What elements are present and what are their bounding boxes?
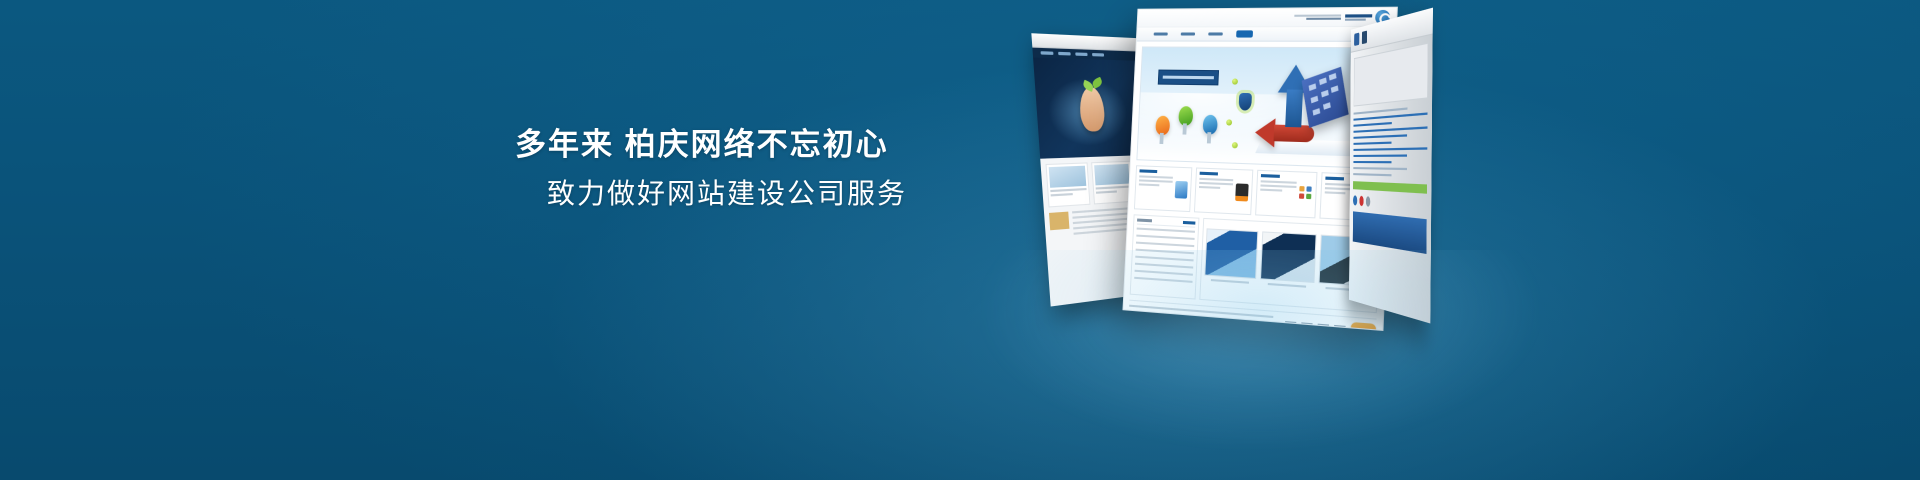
footer-link[interactable] <box>1318 323 1329 327</box>
center-site-topbar <box>1137 8 1396 28</box>
news-panel-header <box>1137 219 1196 228</box>
cube-cell <box>1329 73 1337 81</box>
footer-cta-button[interactable] <box>1351 322 1377 331</box>
feature-card-heading <box>1139 169 1157 173</box>
round-button[interactable] <box>1359 196 1363 207</box>
text-line <box>1354 107 1407 114</box>
slogan-line <box>1294 14 1341 16</box>
text-line <box>1354 112 1428 120</box>
dot-decor <box>1232 78 1238 84</box>
cube-cell <box>1323 102 1331 110</box>
right-site-body <box>1350 105 1432 178</box>
orb-stand <box>1183 123 1187 134</box>
news-list <box>1134 228 1195 283</box>
nav-item-1[interactable] <box>1154 33 1168 36</box>
news-more-link[interactable] <box>1183 221 1196 225</box>
footer-line <box>1129 315 1220 324</box>
logo-wordmark <box>1345 14 1372 20</box>
text-line <box>1260 184 1296 188</box>
text-line <box>1139 175 1172 178</box>
right-site-button-row <box>1350 195 1432 213</box>
cube-cell <box>1331 85 1339 93</box>
cube-cell <box>1321 90 1329 98</box>
footer-link[interactable] <box>1285 321 1296 325</box>
toolbar-icon[interactable] <box>1362 31 1367 45</box>
feature-card[interactable] <box>1134 165 1192 212</box>
feature-card-heading <box>1261 174 1280 178</box>
news-item[interactable] <box>1135 256 1193 262</box>
feature-card-text <box>1138 169 1173 207</box>
nav-item <box>1058 52 1071 56</box>
text-line <box>1353 173 1391 176</box>
news-item[interactable] <box>1134 277 1192 283</box>
cube-cell <box>1313 108 1321 116</box>
news-item[interactable] <box>1136 235 1194 240</box>
text-line <box>1354 126 1428 132</box>
footer-link[interactable] <box>1301 322 1312 326</box>
right-site-hero <box>1354 43 1428 107</box>
text-line <box>1050 188 1086 192</box>
news-item[interactable] <box>1136 249 1194 255</box>
nav-item <box>1092 53 1104 57</box>
footer-text-block <box>1128 305 1273 331</box>
case-thumbnail[interactable] <box>1204 228 1259 284</box>
nav-item-2[interactable] <box>1181 32 1195 35</box>
nav-item <box>1041 51 1054 55</box>
logo-text-line <box>1345 14 1372 17</box>
center-site-lower <box>1130 214 1381 313</box>
product-thumb <box>1049 166 1087 188</box>
hero-title-line <box>1163 76 1214 80</box>
red-arrow-icon <box>1254 118 1275 148</box>
hand-sprout-illustration <box>1079 87 1106 132</box>
text-line <box>1199 178 1233 181</box>
hero-banner: 多年来 柏庆网络不忘初心 致力做好网站建设公司服务 <box>0 0 1920 480</box>
dot-cell <box>1298 193 1303 198</box>
case-thumbnail-caption <box>1268 283 1307 288</box>
cube-cell <box>1319 77 1327 85</box>
feature-card-heading <box>1325 177 1344 181</box>
text-line <box>1261 180 1297 184</box>
website-showcase-group <box>1020 0 1520 400</box>
text-line <box>1199 182 1233 185</box>
feature-card-row <box>1134 165 1383 221</box>
nav-item-4-active[interactable] <box>1236 30 1253 37</box>
blue-arrow-stem <box>1285 90 1303 128</box>
doc-icon <box>1174 180 1187 198</box>
right-site-preview[interactable] <box>1349 8 1433 324</box>
text-line <box>1353 154 1406 157</box>
slogan-line <box>1306 18 1341 20</box>
text-line <box>1139 183 1160 186</box>
case-thumbnail-caption <box>1211 279 1249 284</box>
case-thumbnail-image <box>1204 228 1258 279</box>
feature-card[interactable] <box>1193 167 1253 215</box>
feature-card[interactable] <box>1255 170 1317 219</box>
dot-cell <box>1306 193 1311 198</box>
feature-card-heading <box>1199 172 1218 176</box>
text-line <box>1354 122 1392 127</box>
text-line <box>1353 167 1406 170</box>
feature-card-text <box>1197 172 1233 210</box>
blue-content-block <box>1353 211 1427 254</box>
orb-stand <box>1159 133 1163 144</box>
feature-card-text <box>1259 174 1296 213</box>
text-line <box>1353 142 1391 145</box>
news-item[interactable] <box>1137 228 1195 233</box>
cube-cell <box>1309 83 1317 91</box>
green-progress-bar <box>1353 181 1427 194</box>
hero-title-box <box>1158 70 1219 86</box>
product-thumb <box>1094 164 1129 185</box>
text-line <box>1139 179 1172 182</box>
text-line <box>1353 134 1406 139</box>
case-thumbnail-image <box>1260 231 1316 283</box>
toolbar-icon[interactable] <box>1354 33 1359 46</box>
text-line <box>1260 189 1282 192</box>
text-line <box>1096 186 1130 190</box>
footer-link[interactable] <box>1334 324 1346 328</box>
dot-cell <box>1306 186 1311 191</box>
site-slogan <box>1294 14 1341 19</box>
text-line <box>1353 147 1427 151</box>
cube-cell <box>1311 96 1319 104</box>
badge-block <box>1049 212 1069 231</box>
logo-text-line <box>1345 18 1366 20</box>
round-button[interactable] <box>1353 195 1357 205</box>
text-line <box>1198 186 1219 189</box>
news-panel-title <box>1137 219 1152 223</box>
nav-item-3[interactable] <box>1208 32 1223 35</box>
text-line <box>1096 190 1117 193</box>
text-line <box>1324 191 1346 194</box>
case-thumbnail[interactable] <box>1260 231 1316 288</box>
text-line <box>1353 161 1391 163</box>
round-button[interactable] <box>1366 196 1370 207</box>
news-item[interactable] <box>1135 263 1193 269</box>
dots-icon <box>1298 186 1312 204</box>
news-item[interactable] <box>1136 242 1194 248</box>
nav-item <box>1075 52 1087 56</box>
dot-cell <box>1299 186 1304 191</box>
orb-stand <box>1207 132 1211 143</box>
footer-link-row <box>1285 317 1376 331</box>
phone-icon <box>1235 183 1249 201</box>
text-line <box>1051 193 1073 196</box>
news-item[interactable] <box>1135 270 1193 276</box>
news-list-panel <box>1130 214 1200 299</box>
product-card[interactable] <box>1046 162 1091 207</box>
